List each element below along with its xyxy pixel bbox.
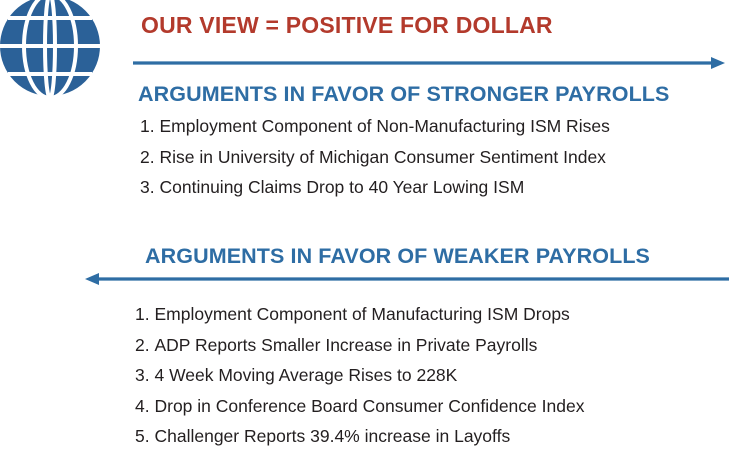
list-item: 2. ADP Reports Smaller Increase in Priva… [135, 337, 584, 355]
list-item-number: 2. [140, 149, 155, 167]
list-item-text: Challenger Reports 39.4% increase in Lay… [154, 428, 510, 446]
list-item-text: Drop in Conference Board Consumer Confid… [154, 398, 584, 416]
list-item: 5. Challenger Reports 39.4% increase in … [135, 428, 584, 446]
list-item: 1. Employment Component of Non-Manufactu… [140, 118, 610, 136]
list-item-number: 3. [135, 367, 150, 385]
list-item-text: Employment Component of Non-Manufacturin… [159, 118, 609, 136]
list-item-text: Continuing Claims Drop to 40 Year Lowing… [159, 179, 524, 197]
list-item-text: 4 Week Moving Average Rises to 228K [154, 367, 457, 385]
list-item: 3. Continuing Claims Drop to 40 Year Low… [140, 179, 610, 197]
list-item-number: 4. [135, 398, 150, 416]
list-item: 4. Drop in Conference Board Consumer Con… [135, 398, 584, 416]
list-item: 2. Rise in University of Michigan Consum… [140, 149, 610, 167]
section-heading-weaker-payrolls: ARGUMENTS IN FAVOR OF WEAKER PAYROLLS [145, 244, 650, 269]
list-item-number: 1. [140, 118, 155, 136]
list-item-number: 1. [135, 306, 150, 324]
list-item-number: 3. [140, 179, 155, 197]
list-item: 3. 4 Week Moving Average Rises to 228K [135, 367, 584, 385]
list-item-number: 2. [135, 337, 150, 355]
list-item-text: ADP Reports Smaller Increase in Private … [154, 337, 537, 355]
list-item-text: Employment Component of Manufacturing IS… [154, 306, 569, 324]
arrow-left-icon [84, 272, 729, 286]
list-item-text: Rise in University of Michigan Consumer … [159, 149, 605, 167]
arguments-list-stronger: 1. Employment Component of Non-Manufactu… [140, 118, 610, 210]
list-item-number: 5. [135, 428, 150, 446]
list-item: 1. Employment Component of Manufacturing… [135, 306, 584, 324]
globe-icon [0, 0, 117, 112]
arguments-list-weaker: 1. Employment Component of Manufacturing… [135, 306, 584, 459]
section-heading-stronger-payrolls: ARGUMENTS IN FAVOR OF STRONGER PAYROLLS [138, 82, 669, 107]
arrow-right-icon [133, 56, 726, 70]
page-title: OUR VIEW = POSITIVE FOR DOLLAR [141, 12, 553, 39]
slide-canvas: OUR VIEW = POSITIVE FOR DOLLAR ARGUMENTS… [0, 0, 740, 463]
